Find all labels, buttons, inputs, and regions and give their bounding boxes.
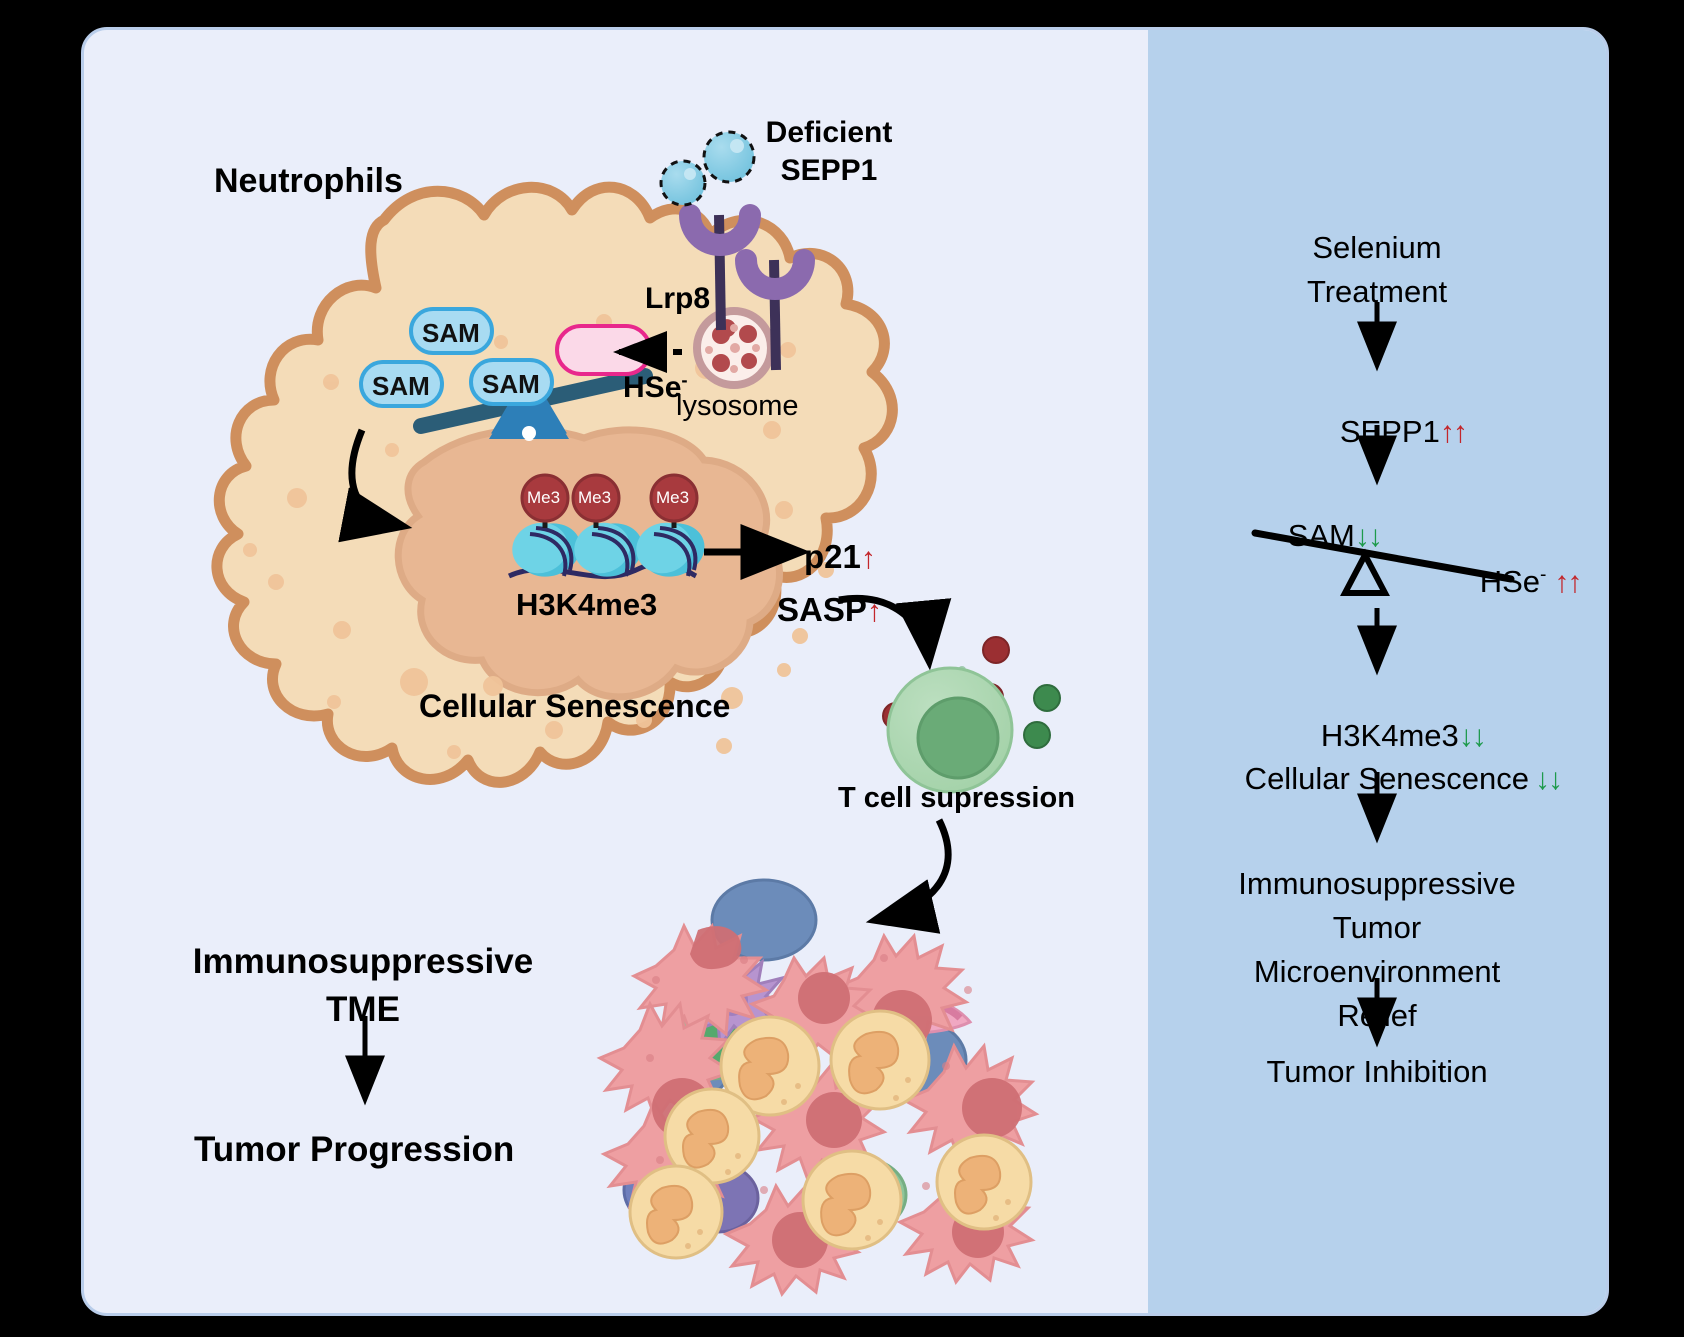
balance-to-nucleus-arrow [352,430,402,526]
label-cellular-senescence: Cellular Senescence [419,688,730,725]
right-label-tumor-inhibition: Tumor Inhibition [1266,1054,1487,1090]
sasp-up-arrow-icon: ↑ [867,595,880,628]
right-label-itme-relief: Immunosuppressive Tumor Microenvironment… [1238,862,1515,1038]
sam-text: SAM [1288,518,1355,553]
hse-superscript: - [681,369,687,390]
label-h3k4me3: H3K4me3 [516,587,657,623]
tumor-neutrophils [630,1011,1031,1258]
label-sasp: SASP↑ [722,553,880,667]
label-lrp8: Lrp8 [645,282,710,316]
right-label-hse: HSe-↑↑ [1428,528,1580,636]
label-tumor-progression: Tumor Progression [194,1130,514,1170]
right-label-selenium-treatment: Selenium Treatment [1307,226,1447,314]
label-immunosuppressive-tme: Immunosuppressive TME [193,938,533,1034]
sam-down-arrows-icon: ↓↓ [1355,520,1381,553]
hse-text: HSe [623,371,681,404]
cytokine-particles [883,637,1060,748]
cellular-senescence-down-arrows-icon: ↓↓ [1535,763,1561,796]
me3-label-1: Me3 [527,488,560,508]
right-pathway-panel [1148,30,1606,1313]
tcell-to-tumor-arrow [876,820,948,920]
sam-label-3: SAM [482,369,540,400]
sepp1-text: SEPP1 [1340,414,1440,449]
deficient-sepp1-particles [661,132,754,205]
label-hse: HSe- [573,335,688,439]
figure-panel: Neutrophils Deficient SEPP1 Lrp8 lysosom… [81,27,1609,1316]
me3-label-2: Me3 [578,488,611,508]
right-label-cellular-senescence: Cellular Senescence↓↓ [1193,725,1561,833]
tumor-cells-pink [600,926,1036,1294]
sepp1-up-arrows-icon: ↑↑ [1440,416,1466,449]
t-cell [888,668,1012,792]
right-label-sepp1: SEPP1↑↑ [1288,378,1466,486]
right-label-sam: SAM↓↓ [1236,482,1381,590]
lysosome [697,311,771,385]
sam-label-1: SAM [422,318,480,349]
tumor-cells-cluster [624,880,970,1232]
label-tcell-suppression: T cell supression [838,782,1075,815]
sasp-text: SASP [777,591,867,628]
cellular-senescence-right-text: Cellular Senescence [1245,761,1529,796]
label-deficient-sepp1: Deficient SEPP1 [766,114,893,190]
tumor-mass [600,880,1036,1294]
label-neutrophils: Neutrophils [214,162,403,201]
sam-label-2: SAM [372,371,430,402]
hse-up-arrows-icon: ↑↑ [1554,566,1580,599]
label-lysosome: lysosome [676,390,799,423]
hse-right-text: HSe [1480,564,1540,599]
me3-label-3: Me3 [656,488,689,508]
hse-right-superscript: - [1540,565,1546,586]
figure-root: Neutrophils Deficient SEPP1 Lrp8 lysosom… [0,0,1684,1337]
